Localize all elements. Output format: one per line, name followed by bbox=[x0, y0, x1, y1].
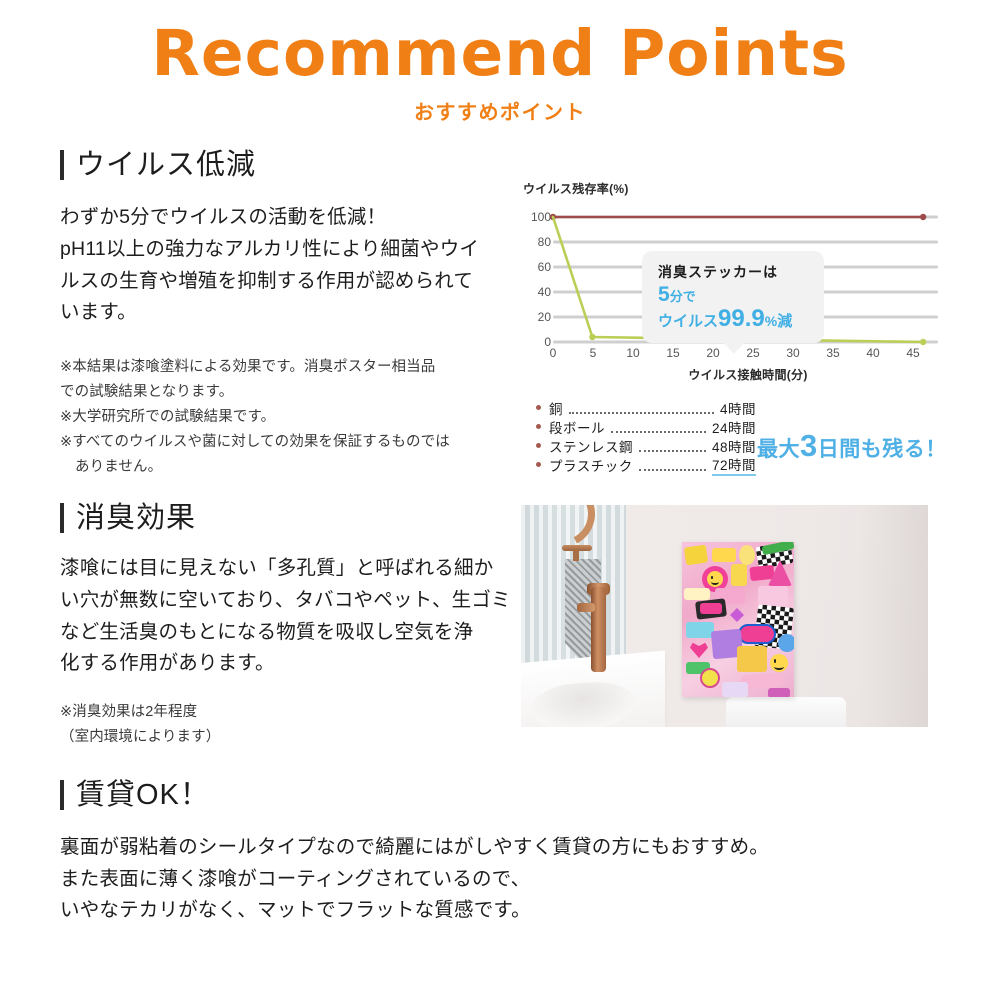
poster-sticker bbox=[778, 634, 794, 652]
heading-bar-icon bbox=[60, 503, 64, 533]
dotted-leader bbox=[611, 420, 706, 433]
max-callout-number: 3 bbox=[800, 428, 818, 463]
x-tick-label: 25 bbox=[746, 346, 759, 360]
callout-reduction-tail: 減 bbox=[777, 313, 792, 330]
callout-percent-sign: % bbox=[765, 313, 777, 329]
x-tick-label: 20 bbox=[706, 346, 719, 360]
legend-material: プラスチック bbox=[549, 455, 633, 475]
body-line: 裏面が弱粘着のシールタイプなので綺麗にはがしやすく賃貸の方にもおすすめ。 bbox=[60, 832, 940, 864]
heading-bar-icon bbox=[60, 780, 64, 810]
poster-sticker bbox=[722, 682, 748, 697]
note-line: ※大学研究所での試験結果です。 bbox=[60, 405, 510, 430]
poster-smiley-icon bbox=[707, 571, 723, 587]
section-title: 賃貸OK！ bbox=[76, 781, 210, 810]
photo-wall-shadow bbox=[858, 505, 928, 727]
bullet-dot-icon bbox=[536, 424, 541, 429]
section-body-virus-reduction: わずか5分でウイルスの活動を低減！ pH11以上の強力なアルカリ性により細菌やウ… bbox=[60, 202, 508, 329]
photo-faucet bbox=[591, 587, 606, 672]
legend-row: 段ボール 24時間 bbox=[536, 417, 756, 436]
legend-material: 段ボール bbox=[549, 417, 605, 437]
poster-sticker bbox=[749, 565, 774, 581]
section-deodorizing: 消臭効果 漆喰には目に見えない「多孔質」と呼ばれる細か い穴が無数に空いており、… bbox=[60, 503, 520, 750]
section-virus-reduction: ウイルス低減 わずか5分でウイルスの活動を低減！ pH11以上の強力なアルカリ性… bbox=[60, 150, 510, 480]
body-line: pH11以上の強力なアルカリ性により細菌やウイ bbox=[60, 234, 508, 266]
page-header: Recommend Points おすすめポイント bbox=[0, 22, 1000, 125]
chart-annotation-callout: 消臭ステッカーは 5分で ウイルス99.9%減 bbox=[642, 251, 824, 343]
note-line: ※本結果は漆喰塗料による効果です。消臭ポスター相当品 bbox=[60, 355, 510, 380]
max-callout-prefix: 最大 bbox=[757, 438, 800, 461]
photo-faucet-handle bbox=[577, 603, 595, 612]
bullet-dot-icon bbox=[536, 405, 541, 410]
section-title: 消臭効果 bbox=[76, 504, 196, 533]
poster-sticker bbox=[684, 545, 708, 566]
callout-minutes-number: 5 bbox=[658, 283, 670, 306]
x-tick-label: 40 bbox=[866, 346, 879, 360]
note-line: （室内環境によります） bbox=[60, 725, 520, 750]
section-notes-virus-reduction: ※本結果は漆喰塗料による効果です。消臭ポスター相当品 での試験結果となります。 … bbox=[60, 355, 510, 480]
legend-duration: 48時間 bbox=[712, 436, 756, 456]
poster-sticker bbox=[712, 548, 736, 562]
page-subtitle: おすすめポイント bbox=[0, 96, 1000, 125]
body-line: ルスの生育や増殖を抑制する作用が認められて bbox=[60, 266, 508, 298]
body-line: 漆喰には目に見えない「多孔質」と呼ばれる細か bbox=[60, 553, 512, 585]
surface-survival-legend: 銅 4時間 段ボール 24時間 ステンレス鋼 48時間 プラスチック 72時間 bbox=[536, 398, 756, 474]
chart-data-point bbox=[589, 334, 595, 340]
callout-line-3: ウイルス99.9%減 bbox=[658, 306, 814, 331]
body-line: また表面に薄く漆喰がコーティングされているので、 bbox=[60, 864, 940, 896]
recommend-points-page: Recommend Points おすすめポイント ウイルス低減 わずか5分でウ… bbox=[0, 0, 1000, 1000]
section-heading-rental-ok: 賃貸OK！ bbox=[60, 780, 940, 810]
x-tick-label: 15 bbox=[666, 346, 679, 360]
photo-towel-rail-post bbox=[573, 549, 579, 561]
x-tick-label: 5 bbox=[590, 346, 597, 360]
photo-toilet-tank bbox=[726, 697, 846, 727]
poster-sticker bbox=[739, 545, 755, 565]
x-tick-label: 35 bbox=[826, 346, 839, 360]
chart-x-axis-label: ウイルス接触時間(分) bbox=[523, 366, 943, 383]
dotted-leader bbox=[639, 458, 706, 471]
poster-sticker bbox=[684, 588, 710, 600]
callout-line-1: 消臭ステッカーは bbox=[658, 262, 814, 282]
poster-sticker bbox=[731, 564, 747, 586]
section-rental-ok: 賃貸OK！ 裏面が弱粘着のシールタイプなので綺麗にはがしやすく賃貸の方にもおすす… bbox=[60, 780, 940, 927]
legend-row: 銅 4時間 bbox=[536, 398, 756, 417]
note-line: での試験結果となります。 bbox=[60, 380, 510, 405]
x-tick-label: 10 bbox=[626, 346, 639, 360]
sticker-poster bbox=[682, 542, 794, 697]
poster-text-sticker bbox=[738, 624, 776, 644]
body-line: いやなテカリがなく、マットでフラットな質感です。 bbox=[60, 895, 940, 927]
x-tick-label: 45 bbox=[906, 346, 919, 360]
chart-plot-area: 100 80 60 40 20 0 消臭ステッカーは 5分で ウイルス99.9%… bbox=[523, 209, 938, 344]
note-line: ※すべてのウイルスや菌に対しての効果を保証するものでは bbox=[60, 430, 510, 455]
poster-peace-icon bbox=[700, 668, 720, 688]
chart-x-axis: 0 5 10 15 20 25 30 35 40 45 bbox=[553, 344, 938, 362]
section-body-rental-ok: 裏面が弱粘着のシールタイプなので綺麗にはがしやすく賃貸の方にもおすすめ。 また表… bbox=[60, 832, 940, 927]
x-tick-label: 0 bbox=[550, 346, 557, 360]
section-title: ウイルス低減 bbox=[76, 151, 256, 180]
legend-row: プラスチック 72時間 bbox=[536, 455, 756, 474]
dotted-leader bbox=[639, 439, 706, 452]
poster-sticker bbox=[737, 646, 767, 672]
bullet-dot-icon bbox=[536, 443, 541, 448]
poster-sticker bbox=[700, 603, 722, 614]
legend-duration-highlighted: 72時間 bbox=[712, 454, 756, 476]
max-callout-suffix: 日間も残る！ bbox=[818, 438, 947, 461]
poster-sticker bbox=[758, 586, 788, 606]
note-line: ※消臭効果は2年程度 bbox=[60, 700, 520, 725]
heading-bar-icon bbox=[60, 150, 64, 180]
body-line: います。 bbox=[60, 297, 508, 329]
callout-line-2: 5分で bbox=[658, 284, 814, 306]
callout-minutes-unit: 分 bbox=[670, 289, 683, 304]
body-line: など生活臭のもとになる物質を吸収し空気を浄 bbox=[60, 617, 512, 649]
x-tick-label: 30 bbox=[786, 346, 799, 360]
legend-duration: 4時間 bbox=[720, 398, 756, 418]
chart-y-axis-label: ウイルス残存率(%) bbox=[523, 180, 943, 197]
callout-virus-word: ウイルス bbox=[658, 313, 718, 330]
legend-material: 銅 bbox=[549, 398, 563, 418]
legend-row: ステンレス鋼 48時間 bbox=[536, 436, 756, 455]
chart-data-point bbox=[920, 214, 926, 220]
max-survival-callout: 最大3日間も残る！ bbox=[757, 428, 947, 464]
callout-minutes-tail: で bbox=[683, 289, 696, 304]
body-line: い穴が無数に空いており、タバコやペット、生ゴミ bbox=[60, 585, 512, 617]
bullet-dot-icon bbox=[536, 462, 541, 467]
page-title: Recommend Points bbox=[0, 22, 1000, 85]
section-notes-deodorizing: ※消臭効果は2年程度 （室内環境によります） bbox=[60, 700, 520, 750]
body-line: 化する作用があります。 bbox=[60, 648, 512, 680]
bathroom-photo bbox=[521, 505, 928, 727]
dotted-leader bbox=[569, 401, 714, 414]
poster-sticker bbox=[768, 688, 790, 697]
poster-smiley-icon bbox=[770, 654, 788, 672]
virus-survival-chart: ウイルス残存率(%) 100 80 60 40 20 0 消臭ステッカーは 5分… bbox=[523, 180, 943, 383]
note-line: ありません。 bbox=[60, 455, 510, 480]
legend-material: ステンレス鋼 bbox=[549, 436, 633, 456]
poster-sticker bbox=[686, 622, 714, 638]
section-heading-virus-reduction: ウイルス低減 bbox=[60, 150, 510, 180]
body-line: わずか5分でウイルスの活動を低減！ bbox=[60, 202, 508, 234]
legend-duration: 24時間 bbox=[712, 417, 756, 437]
section-heading-deodorizing: 消臭効果 bbox=[60, 503, 520, 533]
section-body-deodorizing: 漆喰には目に見えない「多孔質」と呼ばれる細か い穴が無数に空いており、タバコやペ… bbox=[60, 553, 512, 680]
callout-reduction-number: 99.9 bbox=[718, 305, 765, 332]
